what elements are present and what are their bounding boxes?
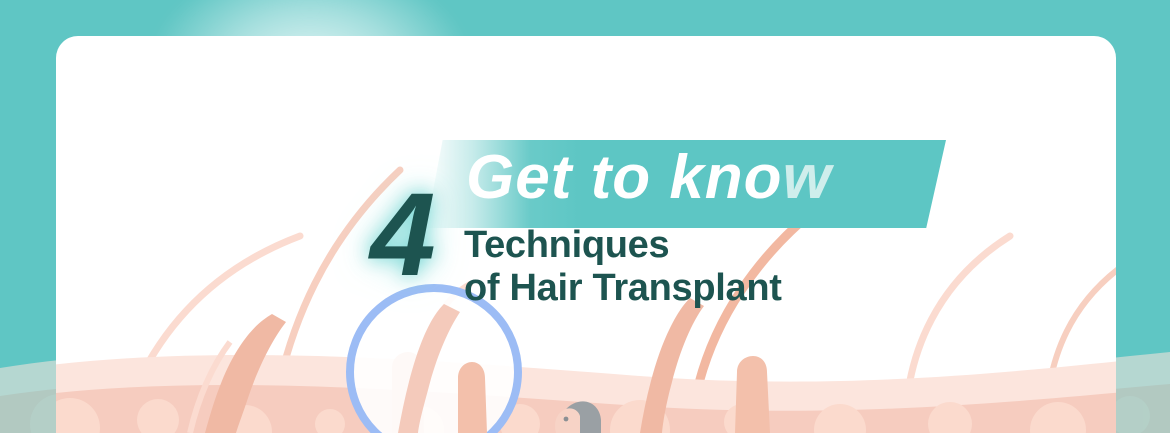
subtitle-line-2: of Hair Transplant bbox=[464, 267, 782, 310]
subtitle: Techniques of Hair Transplant bbox=[464, 224, 782, 309]
step-number: 4 bbox=[370, 176, 433, 294]
banner-title-main: Get to kno bbox=[466, 143, 783, 212]
banner-title-tail: w bbox=[783, 143, 832, 212]
banner-title: Get to know bbox=[466, 147, 832, 209]
content-card: 4 Get to know Techniques of Hair Transpl… bbox=[56, 36, 1116, 433]
poster-canvas: 4 Get to know Techniques of Hair Transpl… bbox=[0, 0, 1170, 433]
subtitle-line-1: Techniques bbox=[464, 224, 669, 266]
headline-block: 4 Get to know Techniques of Hair Transpl… bbox=[356, 128, 996, 308]
